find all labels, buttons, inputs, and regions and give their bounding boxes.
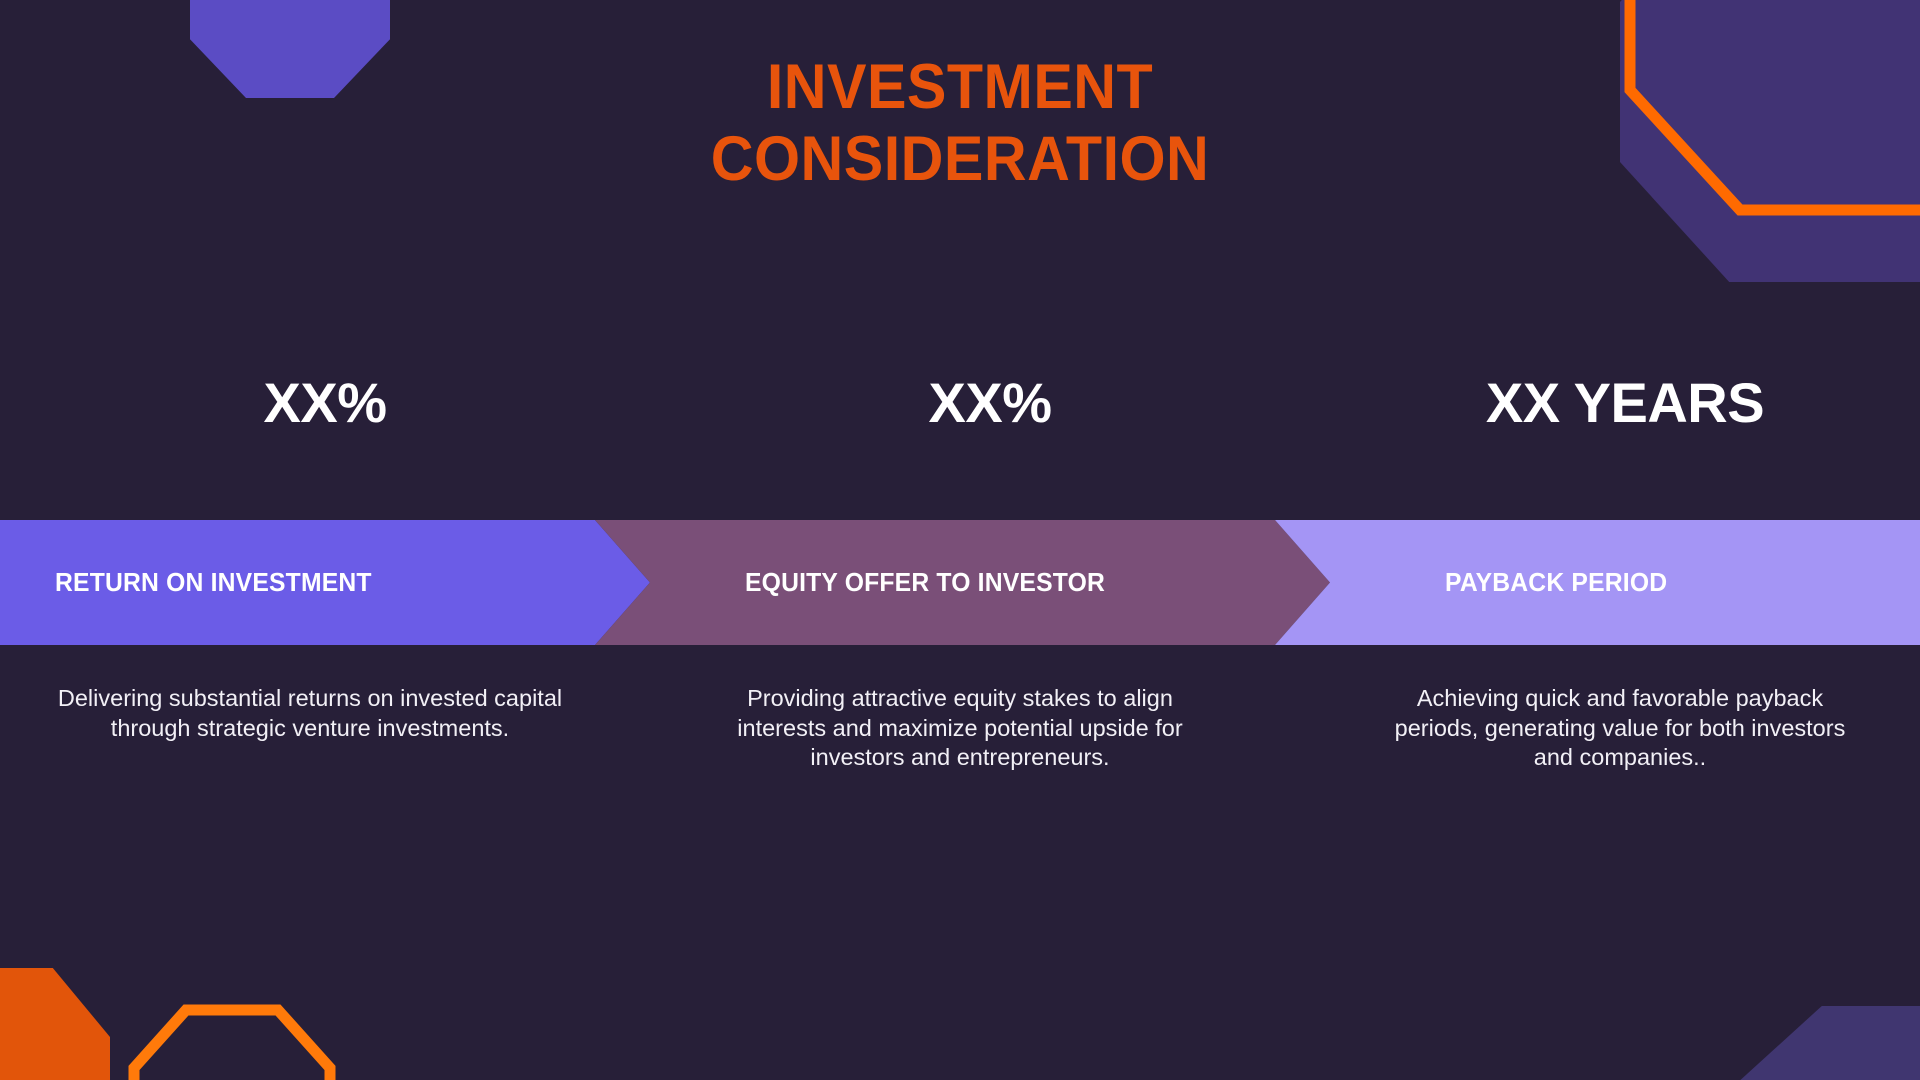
chevron-label-3: PAYBACK PERIOD	[1445, 567, 1667, 598]
stat-description-1: Delivering substantial returns on invest…	[0, 684, 650, 743]
chevron-label-1: RETURN ON INVESTMENT	[55, 567, 372, 598]
chevron-segment-return-on-investment[interactable]: RETURN ON INVESTMENT	[0, 520, 650, 645]
slide-canvas: INVESTMENT CONSIDERATION XX% Delivering …	[0, 0, 1920, 1080]
chevron-segment-equity-offer[interactable]: EQUITY OFFER TO INVESTOR	[595, 520, 1330, 645]
stat-description-3: Achieving quick and favorable payback pe…	[1330, 684, 1920, 773]
stat-description-2: Providing attractive equity stakes to al…	[650, 684, 1330, 773]
stat-value-3: XX YEARS	[1330, 375, 1920, 431]
chevron-segment-payback-period[interactable]: PAYBACK PERIOD	[1275, 520, 1920, 645]
chevron-label-2: EQUITY OFFER TO INVESTOR	[745, 567, 1105, 598]
chevron-band: RETURN ON INVESTMENT EQUITY OFFER TO INV…	[0, 520, 1920, 645]
